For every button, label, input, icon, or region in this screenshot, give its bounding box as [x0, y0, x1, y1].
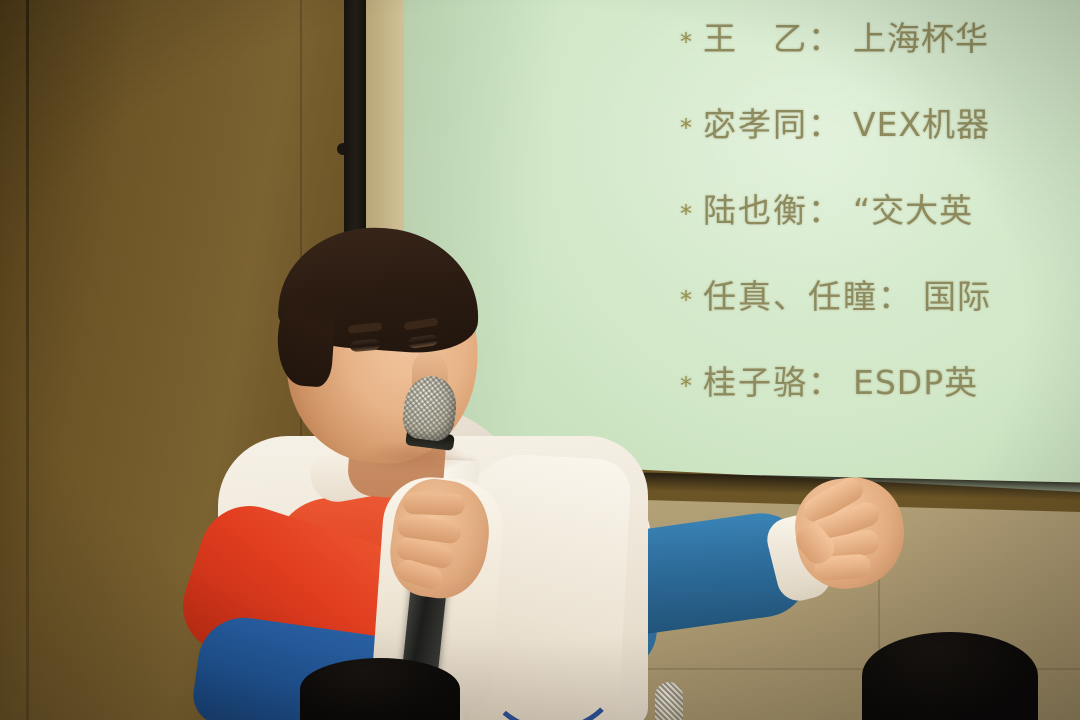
dark-wall-post — [344, 0, 366, 262]
tan-wall-strip — [366, 0, 408, 248]
slide-line-rest: “交大英 — [853, 194, 973, 227]
audience-head-silhouette — [862, 632, 1038, 720]
photo-scene: * 王 乙： 上海杯华 * 宓孝同： VEX机器 * 陆也衡： “交大英 * 任… — [0, 0, 1080, 720]
slide-line-rest: 国际 — [923, 280, 991, 313]
slide-line-name: 宓孝同： — [703, 108, 843, 141]
lanyard-cord — [480, 626, 624, 720]
slide-line-rest: 上海杯华 — [853, 22, 989, 55]
slide-line-name: 王 乙： — [703, 22, 843, 55]
left-index-finger — [402, 492, 465, 516]
bullet-star-icon: * — [680, 116, 693, 140]
slide-line: * 王 乙： 上海杯华 — [680, 22, 1080, 108]
slide-line-rest: ESDP英 — [853, 366, 978, 399]
bullet-star-icon: * — [680, 202, 693, 226]
slide-line-rest: VEX机器 — [853, 108, 990, 141]
wall-seam-left — [26, 0, 29, 720]
slide-line: * 宓孝同： VEX机器 — [680, 108, 1080, 194]
slide-line-name: 陆也衡： — [703, 194, 843, 227]
audience-head-silhouette — [300, 658, 460, 720]
bullet-star-icon: * — [680, 30, 693, 54]
wall-post-knob — [337, 143, 349, 155]
speaker-figure: mizuno — [160, 228, 780, 720]
